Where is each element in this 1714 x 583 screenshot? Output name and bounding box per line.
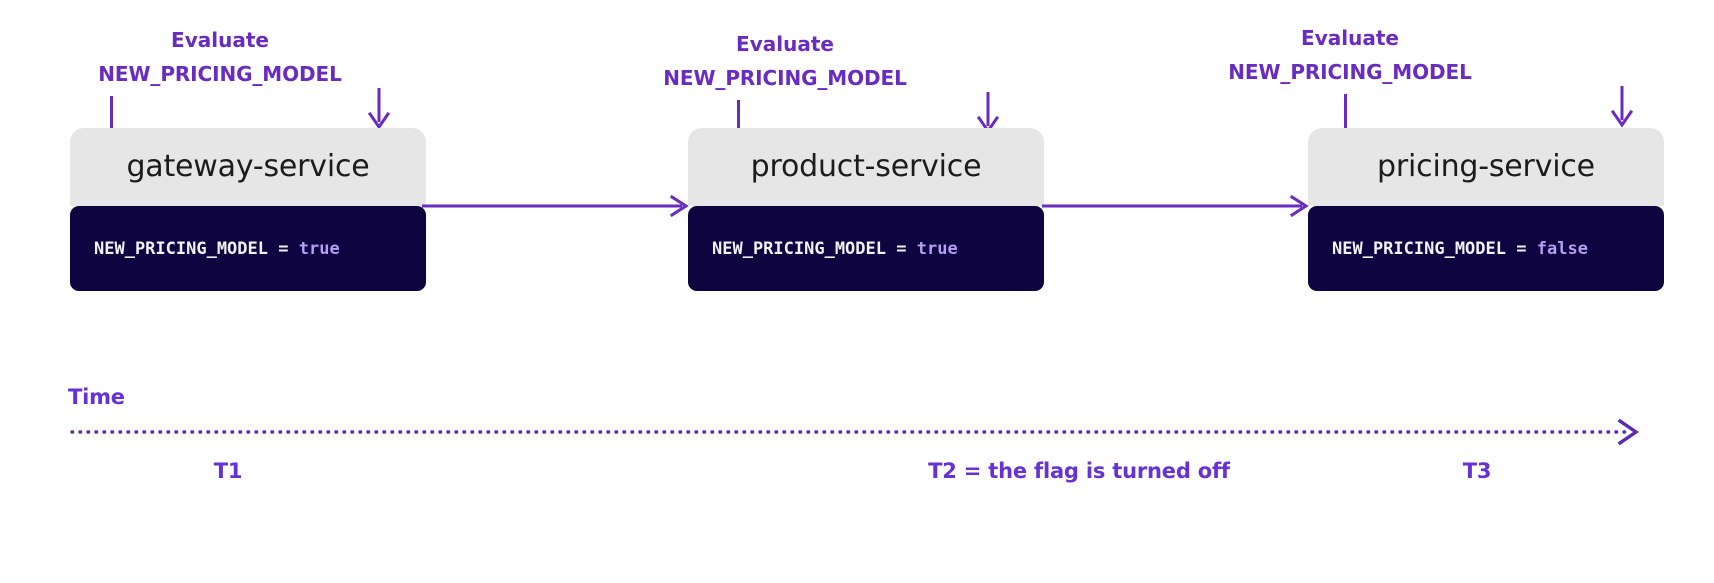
service-node-gateway-service[interactable]: gateway-service NEW_PRICING_MODEL = true: [70, 128, 426, 291]
service-node-product-service[interactable]: product-service NEW_PRICING_MODEL = true: [688, 128, 1044, 291]
service-node-header: pricing-service: [1308, 128, 1664, 206]
timeline-axis: [70, 418, 1712, 446]
service-node-flag-panel: NEW_PRICING_MODEL = false: [1308, 206, 1664, 291]
service-node-title: gateway-service: [126, 149, 369, 184]
tick-mark-icon-pricing-service: [1344, 94, 1347, 128]
flag-equals: =: [278, 239, 288, 259]
tick-mark-icon-gateway-service: [110, 96, 113, 128]
service-node-title: pricing-service: [1377, 149, 1595, 184]
arrow-down-icon-pricing-service: [1610, 84, 1634, 128]
flag-key: NEW_PRICING_MODEL: [712, 239, 886, 259]
evaluate-annotation-gateway-service: Evaluate NEW_PRICING_MODEL: [70, 24, 370, 91]
evaluate-annotation-line2: NEW_PRICING_MODEL: [1200, 56, 1500, 90]
flag-value: true: [917, 239, 958, 259]
arrow-right-icon-product-to-pricing: [1040, 195, 1318, 217]
flag-equals: =: [1516, 239, 1526, 259]
service-node-header: gateway-service: [70, 128, 426, 206]
service-node-flag-panel: NEW_PRICING_MODEL = true: [688, 206, 1044, 291]
service-node-title: product-service: [751, 149, 982, 184]
flag-value: false: [1537, 239, 1588, 259]
flag-key: NEW_PRICING_MODEL: [94, 239, 268, 259]
service-node-flag-expression: NEW_PRICING_MODEL = false: [1332, 239, 1588, 259]
evaluate-annotation-line1: Evaluate: [635, 28, 935, 62]
service-node-flag-expression: NEW_PRICING_MODEL = true: [94, 239, 340, 259]
evaluate-annotation-line1: Evaluate: [70, 24, 370, 58]
evaluate-annotation-line2: NEW_PRICING_MODEL: [70, 58, 370, 92]
tick-mark-icon-product-service: [737, 100, 740, 128]
timeline-mark-t3: T3: [1463, 459, 1492, 483]
timeline-title: Time: [68, 385, 125, 409]
evaluate-annotation-line2: NEW_PRICING_MODEL: [635, 62, 935, 96]
timeline-mark-t1: T1: [214, 459, 243, 483]
flag-key: NEW_PRICING_MODEL: [1332, 239, 1506, 259]
service-node-header: product-service: [688, 128, 1044, 206]
timeline-mark-t2: T2 = the flag is turned off: [928, 459, 1230, 483]
evaluate-annotation-pricing-service: Evaluate NEW_PRICING_MODEL: [1200, 22, 1500, 89]
service-node-flag-panel: NEW_PRICING_MODEL = true: [70, 206, 426, 291]
arrow-down-icon-gateway-service: [367, 86, 391, 130]
service-node-pricing-service[interactable]: pricing-service NEW_PRICING_MODEL = fals…: [1308, 128, 1664, 291]
flag-equals: =: [896, 239, 906, 259]
diagram-canvas: Evaluate NEW_PRICING_MODEL gateway-servi…: [0, 0, 1714, 583]
evaluate-annotation-line1: Evaluate: [1200, 22, 1500, 56]
service-node-flag-expression: NEW_PRICING_MODEL = true: [712, 239, 958, 259]
evaluate-annotation-product-service: Evaluate NEW_PRICING_MODEL: [635, 28, 935, 95]
flag-value: true: [299, 239, 340, 259]
arrow-right-icon-gateway-to-product: [420, 195, 698, 217]
